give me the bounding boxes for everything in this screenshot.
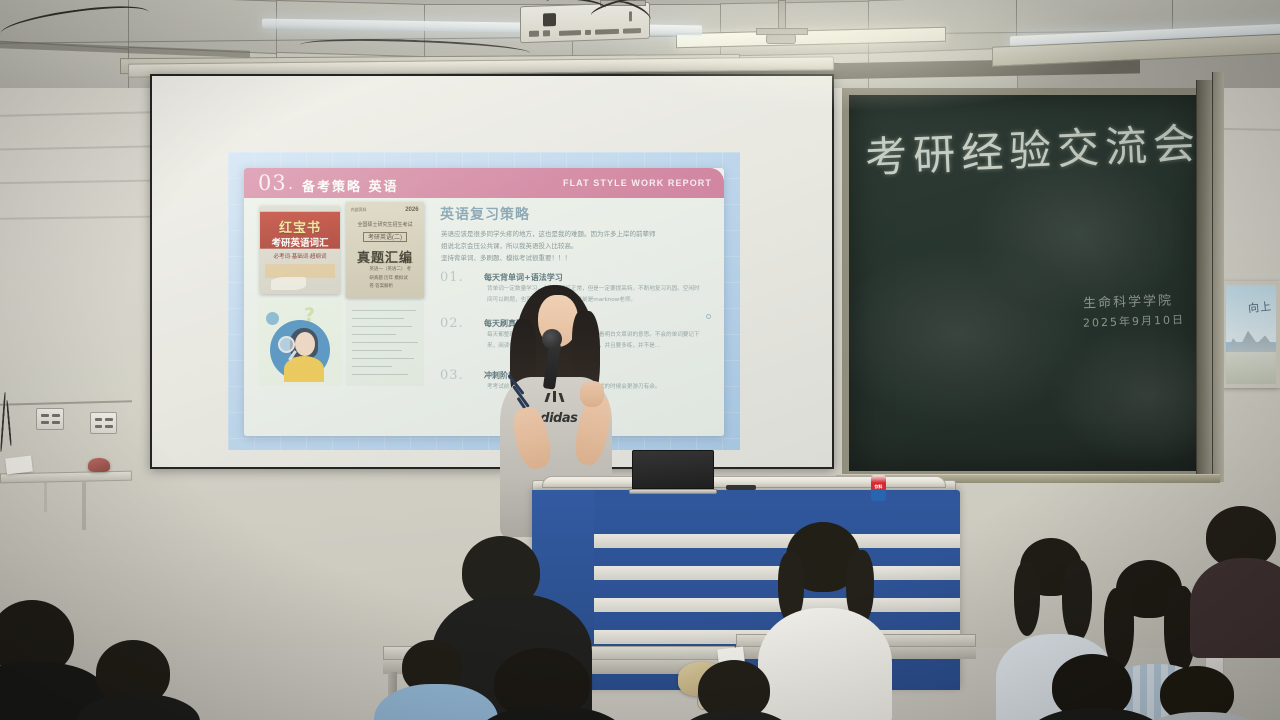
podium-cable <box>726 485 756 490</box>
picture-caption: 向上 <box>1247 298 1273 316</box>
classroom-scene: 向上 考研经验交流会 生命科学学院 2025年9月10日 03 . 备考策略 英… <box>0 0 1280 720</box>
wall-outlet[interactable] <box>90 412 117 434</box>
laptop-screen[interactable] <box>632 450 714 489</box>
wall-framed-picture: 向上 <box>1222 281 1280 388</box>
microphone-head <box>542 329 562 349</box>
shelf-object <box>88 458 110 472</box>
shelf-papers <box>5 455 33 474</box>
wall-outlet[interactable] <box>36 408 64 430</box>
blackboard-subtitle-1: 生命科学学院 <box>1083 289 1174 311</box>
blackboard: 考研经验交流会 生命科学学院 2025年9月10日 <box>842 88 1212 478</box>
bottle-label: 饮料 <box>871 484 886 490</box>
laptop-base[interactable] <box>629 489 717 494</box>
drink-bottle[interactable]: 饮料 <box>871 475 886 501</box>
projector-lens <box>543 13 556 26</box>
